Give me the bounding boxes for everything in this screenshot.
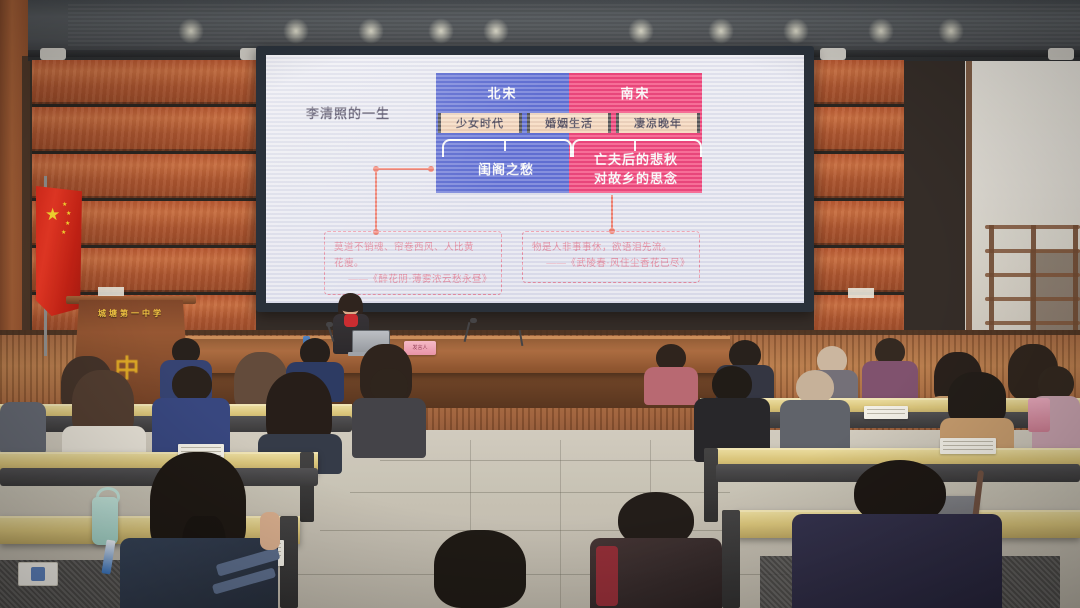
desk-label-sticker bbox=[18, 562, 58, 586]
presenter-hair-top bbox=[339, 293, 362, 312]
flag-star-small-1: ★ bbox=[62, 202, 67, 208]
quote-left-line2: 花瘦。 bbox=[334, 256, 492, 272]
summary-southern-line1: 亡夫后的悲秋 bbox=[572, 151, 700, 170]
desk-side-panel-front-right bbox=[722, 510, 740, 608]
stair-railing bbox=[985, 225, 1080, 345]
life-stage-chip-marriage: 婚姻生活 bbox=[527, 113, 611, 133]
audience-person-foreground bbox=[120, 452, 278, 608]
summary-southern: 亡夫后的悲秋 对故乡的思念 bbox=[572, 151, 700, 189]
audience-person-foreground bbox=[590, 492, 722, 608]
thermos-bottle bbox=[92, 497, 118, 545]
projector-screen[interactable]: 李清照的一生 北宋 南宋 少女时代 婚姻生活 凄凉晚年 bbox=[266, 55, 804, 303]
life-stage-row: 少女时代 婚姻生活 凄凉晚年 bbox=[438, 113, 700, 133]
brace-stem-northern bbox=[504, 139, 506, 151]
audience-person bbox=[0, 392, 46, 452]
school-name-sign: 城塘第一中学 bbox=[78, 308, 184, 319]
desk-side-panel-left bbox=[300, 452, 314, 522]
quote-right-source: ——《武陵春·风住尘香花已尽》 bbox=[532, 256, 690, 272]
presenter-scarf bbox=[344, 314, 358, 327]
era-label-southern-song: 南宋 bbox=[569, 83, 702, 102]
life-stage-chip-late-years: 凄凉晚年 bbox=[616, 113, 700, 133]
slide-title: 李清照的一生 bbox=[306, 103, 390, 122]
flag-star-small-3: ★ bbox=[65, 221, 70, 227]
flag-star-small-4: ★ bbox=[61, 230, 66, 236]
brace-stem-southern bbox=[634, 139, 636, 151]
mobile-phone[interactable] bbox=[1028, 398, 1050, 432]
quote-box-wuling-spring: 物是人非事事休，欲语泪先流。 ——《武陵春·风住尘香花已尽》 bbox=[522, 231, 700, 283]
quote-right-line1: 物是人非事事休，欲语泪先流。 bbox=[532, 240, 690, 256]
handout-paper bbox=[940, 438, 996, 454]
connector-v-pink bbox=[611, 195, 613, 231]
summary-southern-line2: 对故乡的思念 bbox=[572, 170, 700, 189]
microphone-head-right bbox=[470, 318, 477, 323]
connector-v-blue bbox=[375, 168, 377, 232]
life-stage-chip-maiden: 少女时代 bbox=[438, 113, 522, 133]
audience-person bbox=[644, 344, 698, 402]
brace-northern bbox=[442, 139, 572, 157]
blackboard-glass bbox=[68, 4, 1080, 48]
lecture-hall-screenshot: 李清照的一生 北宋 南宋 少女时代 婚姻生活 凄凉晚年 bbox=[0, 0, 1080, 608]
handout-paper bbox=[864, 406, 908, 419]
flag-star-large: ★ bbox=[45, 206, 60, 223]
quote-box-drunk-shadow: 莫道不销魂、帘卷西风、人比黄 花瘦。 ——《醉花阴·薄雾浓云愁永昼》 bbox=[324, 231, 502, 295]
flag-star-small-2: ★ bbox=[66, 211, 71, 217]
audience-person bbox=[352, 368, 426, 460]
summary-northern: 闺阁之愁 bbox=[442, 159, 570, 178]
microphone-head-left bbox=[326, 322, 333, 327]
quote-left-source: ——《醉花阴·薄雾浓云愁永昼》 bbox=[334, 272, 492, 288]
audience-person-foreground bbox=[400, 530, 560, 608]
quote-left-line1: 莫道不销魂、帘卷西风、人比黄 bbox=[334, 240, 492, 256]
audience-person-foreground bbox=[792, 460, 1002, 608]
audience-person bbox=[862, 338, 918, 400]
presentation-slide: 李清照的一生 北宋 南宋 少女时代 婚姻生活 凄凉晚年 bbox=[266, 55, 804, 303]
connector-h-blue bbox=[376, 168, 430, 170]
era-label-northern-song: 北宋 bbox=[436, 83, 569, 102]
